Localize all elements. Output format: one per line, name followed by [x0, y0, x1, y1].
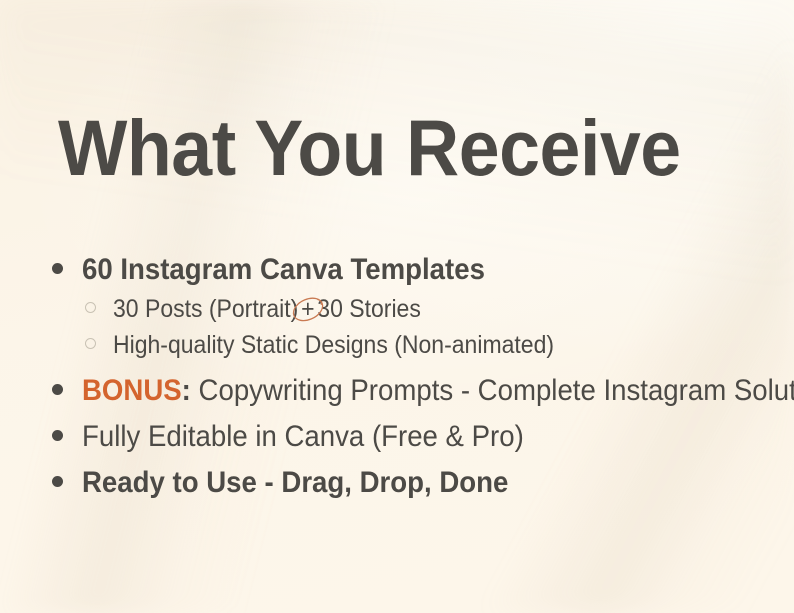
bonus-badge: BONUS [82, 374, 182, 407]
list-item-label-after: 30 Stories [317, 295, 421, 323]
list-item-label: 30 Posts (Portrait)+30 Stories [113, 292, 421, 327]
plus-symbol: + [301, 295, 314, 323]
benefits-list: 60 Instagram Canva Templates 30 Posts (P… [44, 250, 784, 505]
bullet-filled-icon [44, 435, 82, 446]
bullet-hollow-icon [82, 342, 113, 353]
list-item-label: Fully Editable in Canva (Free & Pro) [82, 417, 524, 457]
slide-canvas: What You Receive 60 Instagram Canva Temp… [0, 0, 794, 613]
list-item-label: 60 Instagram Canva Templates [82, 250, 485, 290]
list-item: 30 Posts (Portrait)+30 Stories [44, 292, 784, 327]
list-item-label-text: Copywriting Prompts - Complete Instagram… [191, 374, 794, 407]
list-item-label: High-quality Static Designs (Non-animate… [113, 328, 554, 363]
list-item: Fully Editable in Canva (Free & Pro) [44, 417, 784, 457]
bonus-colon: : [182, 374, 191, 407]
slide-content: What You Receive 60 Instagram Canva Temp… [0, 0, 794, 613]
bullet-filled-icon [44, 268, 82, 279]
list-item-label-before: 30 Posts (Portrait) [113, 295, 298, 323]
list-item: Ready to Use - Drag, Drop, Done [44, 463, 784, 503]
list-item: 60 Instagram Canva Templates [44, 250, 784, 290]
list-item-label: BONUS: Copywriting Prompts - Complete In… [82, 371, 794, 411]
bullet-filled-icon [44, 481, 82, 492]
list-item: BONUS: Copywriting Prompts - Complete In… [44, 371, 784, 411]
page-title: What You Receive [58, 108, 681, 187]
bullet-filled-icon [44, 389, 82, 400]
circled-plus: + [298, 292, 317, 327]
list-item-label: Ready to Use - Drag, Drop, Done [82, 463, 508, 503]
list-item: High-quality Static Designs (Non-animate… [44, 328, 784, 363]
bullet-hollow-icon [82, 306, 113, 317]
